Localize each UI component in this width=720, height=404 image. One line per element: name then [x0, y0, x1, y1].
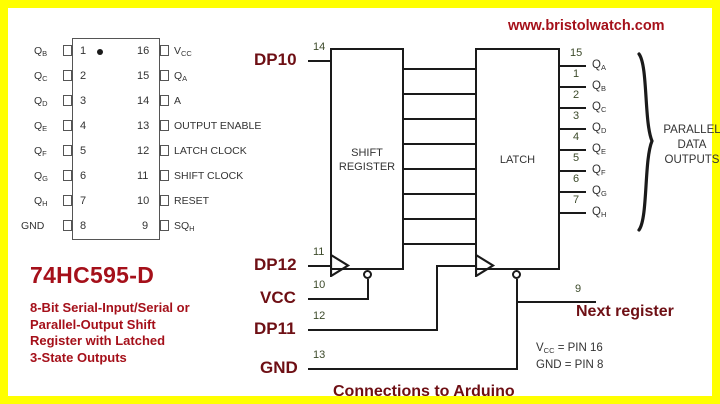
input-label-GND: GND — [260, 358, 298, 378]
pin-label-QE: QE — [34, 120, 47, 133]
output-wire-QF — [560, 170, 586, 172]
input-pin-14: 14 — [313, 41, 325, 53]
pin-label-GND: GND — [21, 220, 44, 233]
wire-dp11-h2 — [436, 265, 475, 267]
output-wire-QH — [560, 212, 586, 214]
input-label-VCC: VCC — [260, 288, 296, 308]
output-pin-9: 9 — [575, 283, 581, 295]
pin-label-VCC: VCC — [174, 45, 192, 58]
pin-number-4: 4 — [80, 120, 86, 132]
output-label-QB: QB — [592, 80, 606, 93]
input-pin-12: 12 — [313, 310, 325, 322]
pin-tab-9 — [160, 220, 169, 231]
output-pin-15: 15 — [570, 47, 582, 59]
pin-number-10: 10 — [137, 195, 149, 207]
pin-tab-4 — [63, 120, 72, 131]
shift-clock-triangle-icon — [330, 254, 352, 277]
output-wire-QB — [560, 86, 586, 88]
pin-tab-14 — [160, 95, 169, 106]
pin-number-7: 7 — [80, 195, 86, 207]
pin-label-QH: QH — [34, 195, 48, 208]
shift-register-block: SHIFT REGISTER — [330, 48, 404, 270]
shift-register-reset-bubble-icon — [363, 270, 372, 279]
bus-wire-4 — [404, 143, 475, 145]
arduino-connections-caption: Connections to Arduino — [333, 383, 515, 401]
output-label-QH: QH — [592, 206, 606, 219]
pin-number-15: 15 — [137, 70, 149, 82]
pin-tab-12 — [160, 145, 169, 156]
wire-dp11-h1 — [308, 329, 436, 331]
pin-tab-5 — [63, 145, 72, 156]
pin-tab-7 — [63, 195, 72, 206]
input-label-DP10: DP10 — [254, 50, 297, 70]
wire-dp11-v — [436, 265, 438, 331]
pin1-marker-dot — [97, 49, 103, 55]
shift-register-label: SHIFT REGISTER — [332, 146, 402, 174]
bus-wire-1 — [404, 68, 475, 70]
pin-number-9: 9 — [142, 220, 148, 232]
next-register-label: Next register — [576, 303, 674, 321]
part-description-line-3: Register with Latched — [30, 333, 245, 350]
part-description-line-2: Parallel-Output Shift — [30, 317, 245, 334]
pin-number-5: 5 — [80, 145, 86, 157]
pin-number-16: 16 — [137, 45, 149, 57]
bus-wire-6 — [404, 193, 475, 195]
pin-tab-3 — [63, 95, 72, 106]
output-wire-QE — [560, 149, 586, 151]
footnote-gnd-line: GND = PIN 8 — [536, 358, 603, 372]
power-pin-footnote: VCC = PIN 16 GND = PIN 8 — [536, 341, 603, 372]
bus-wire-7 — [404, 218, 475, 220]
pin-label-QG: QG — [34, 170, 48, 183]
part-description: 8-Bit Serial-Input/Serial or Parallel-Ou… — [30, 300, 245, 366]
pin-number-13: 13 — [137, 120, 149, 132]
pin-tab-16 — [160, 45, 169, 56]
pin-label-QA: QA — [174, 70, 187, 83]
pin-number-8: 8 — [80, 220, 86, 232]
pin-tab-6 — [63, 170, 72, 181]
output-label-QD: QD — [592, 122, 606, 135]
dip-package-body — [72, 38, 160, 240]
bus-wire-8 — [404, 243, 475, 245]
pin-number-12: 12 — [137, 145, 149, 157]
output-pin-5: 5 — [573, 152, 579, 164]
output-pin-2: 2 — [573, 89, 579, 101]
pin-number-14: 14 — [137, 95, 149, 107]
output-label-QE: QE — [592, 143, 606, 156]
pin-label-reset: RESET — [174, 195, 209, 208]
pin-label-A: A — [174, 95, 181, 108]
output-group-brace-icon — [635, 52, 657, 232]
output-pin-4: 4 — [573, 131, 579, 143]
pin-tab-11 — [160, 170, 169, 181]
pin-tab-13 — [160, 120, 169, 131]
output-pin-1: 1 — [573, 68, 579, 80]
part-number-title: 74HC595-D — [30, 262, 154, 289]
pin-number-1: 1 — [80, 45, 86, 57]
output-pin-7: 7 — [573, 194, 579, 206]
wire-dp12 — [308, 265, 330, 267]
pin-label-QF: QF — [34, 145, 47, 158]
wire-vcc-h — [308, 298, 367, 300]
output-label-QC: QC — [592, 101, 606, 114]
pin-label-output-enable: OUTPUT ENABLE — [174, 120, 261, 133]
pin-label-shift-clock: SHIFT CLOCK — [174, 170, 243, 183]
diagram-canvas: www.bristolwatch.com 1 2 3 4 5 6 7 8 QB … — [8, 8, 712, 396]
pin-label-QC: QC — [34, 70, 48, 83]
wire-gnd-h — [308, 368, 516, 370]
part-description-line-1: 8-Bit Serial-Input/Serial or — [30, 300, 245, 317]
output-label-QG: QG — [592, 185, 607, 198]
pin-tab-2 — [63, 70, 72, 81]
pin-number-2: 2 — [80, 70, 86, 82]
pin-label-QB: QB — [34, 45, 47, 58]
output-wire-QG — [560, 191, 586, 193]
pin-number-6: 6 — [80, 170, 86, 182]
bus-wire-5 — [404, 168, 475, 170]
footnote-vcc-line: VCC = PIN 16 — [536, 341, 603, 358]
pin-tab-8 — [63, 220, 72, 231]
wire-dp10 — [308, 60, 330, 62]
input-label-DP11: DP11 — [254, 319, 296, 339]
output-wire-QC — [560, 107, 586, 109]
output-label-QA: QA — [592, 59, 606, 72]
parallel-data-outputs-label: PARALLEL DATA OUTPUTS — [658, 123, 720, 168]
output-label-QF: QF — [592, 164, 606, 177]
pin-tab-1 — [63, 45, 72, 56]
latch-clock-triangle-icon — [475, 254, 497, 277]
bus-wire-2 — [404, 93, 475, 95]
output-wire-QD — [560, 128, 586, 130]
latch-label: LATCH — [477, 153, 558, 167]
pin-tab-15 — [160, 70, 169, 81]
input-pin-13: 13 — [313, 349, 325, 361]
pin-label-SQH: SQH — [174, 220, 195, 233]
wire-gnd-v — [516, 279, 518, 370]
pin-tab-10 — [160, 195, 169, 206]
wire-vcc-v — [367, 279, 369, 300]
site-url: www.bristolwatch.com — [508, 18, 665, 34]
bus-wire-3 — [404, 118, 475, 120]
pin-number-11: 11 — [137, 170, 148, 182]
latch-block: LATCH — [475, 48, 560, 270]
pin-label-QD: QD — [34, 95, 48, 108]
latch-output-enable-bubble-icon — [512, 270, 521, 279]
input-pin-11: 11 — [313, 246, 324, 258]
part-description-line-4: 3-State Outputs — [30, 350, 245, 367]
input-label-DP12: DP12 — [254, 255, 297, 275]
input-pin-10: 10 — [313, 279, 325, 291]
output-pin-3: 3 — [573, 110, 579, 122]
output-pin-6: 6 — [573, 173, 579, 185]
output-wire-QA — [560, 65, 586, 67]
pin-label-latch-clock: LATCH CLOCK — [174, 145, 247, 158]
pin-number-3: 3 — [80, 95, 86, 107]
